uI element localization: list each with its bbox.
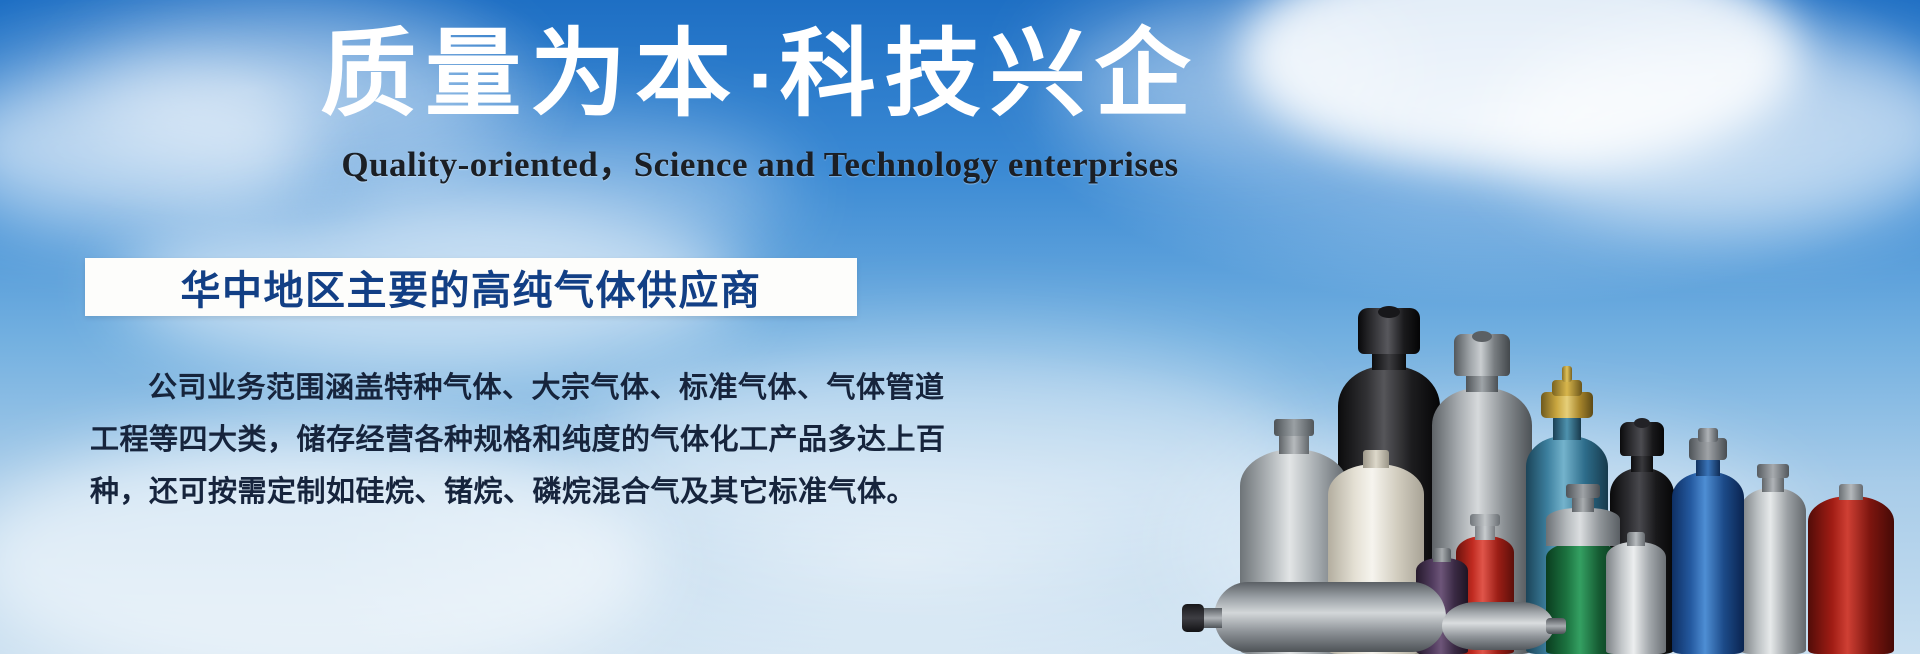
cylinder-neck [1839,484,1863,500]
cylinder-valve [1566,484,1600,498]
dark-red-cylinder [1808,476,1894,654]
cylinder-body [1442,602,1554,650]
cylinder-neck [1475,524,1495,540]
cylinder-neck [1433,548,1451,562]
slogan-box: 华中地区主要的高纯气体供应商 [85,258,857,316]
page-subtitle: Quality-oriented，Science and Technology … [0,136,1520,187]
page-title: 质量为本·科技兴企 [0,18,1520,137]
cylinder-knob [1378,306,1400,318]
gray-lying-cylinder [1434,602,1560,650]
cloud-shape [1500,30,1920,230]
headline-separator: · [740,39,779,123]
cylinder-neck [1696,458,1720,476]
cylinder-knob [1472,331,1492,342]
cylinder-neck [1553,416,1581,440]
promotional-banner: 质量为本·科技兴企 Quality-oriented，Science and T… [0,0,1920,654]
cylinder-knob [1552,380,1582,396]
cylinder-valve [1274,419,1314,436]
cylinder-valve [1182,604,1204,632]
cylinder-body [1672,472,1744,654]
cylinder-valve [1546,618,1566,634]
cylinder-body [1214,582,1446,652]
cylinder-valve [1757,464,1789,478]
paragraph-line: 工程等四大类，储存经营各种规格和纯度的气体化工产品多达上百 [90,414,860,466]
blue-bright-cylinder [1672,426,1744,654]
cylinder-neck [1363,450,1389,468]
cylinder-neck [1572,496,1594,512]
gas-cylinder-product-group [1220,254,1920,654]
paragraph-line: 公司业务范围涵盖特种气体、大宗气体、标准气体、气体管道 [90,362,860,414]
paragraph-line: 种，还可按需定制如硅烷、锗烷、磷烷混合气及其它标准气体。 [90,466,860,518]
cylinder-neck [1631,454,1653,472]
cylinder-body [1808,496,1894,654]
cylinder-knob [1698,428,1718,442]
cylinder-knob [1634,418,1650,428]
cylinder-valve-stem [1562,366,1572,382]
cylinder-neck [1627,532,1645,546]
cylinder-neck [1762,476,1784,492]
gray-lying-cylinder [1200,582,1462,652]
headline-part-1: 质量为本 [320,18,740,130]
cylinder-body [1740,488,1806,654]
description-paragraph: 公司业务范围涵盖特种气体、大宗气体、标准气体、气体管道 工程等四大类，储存经营各… [90,362,860,518]
silver-small-cylinder [1606,526,1666,654]
cylinder-valve [1470,514,1500,526]
silver-cylinder [1740,458,1806,654]
headline-part-2: 科技兴企 [780,18,1200,130]
cylinder-body [1606,542,1666,654]
slogan-text: 华中地区主要的高纯气体供应商 [181,258,762,316]
